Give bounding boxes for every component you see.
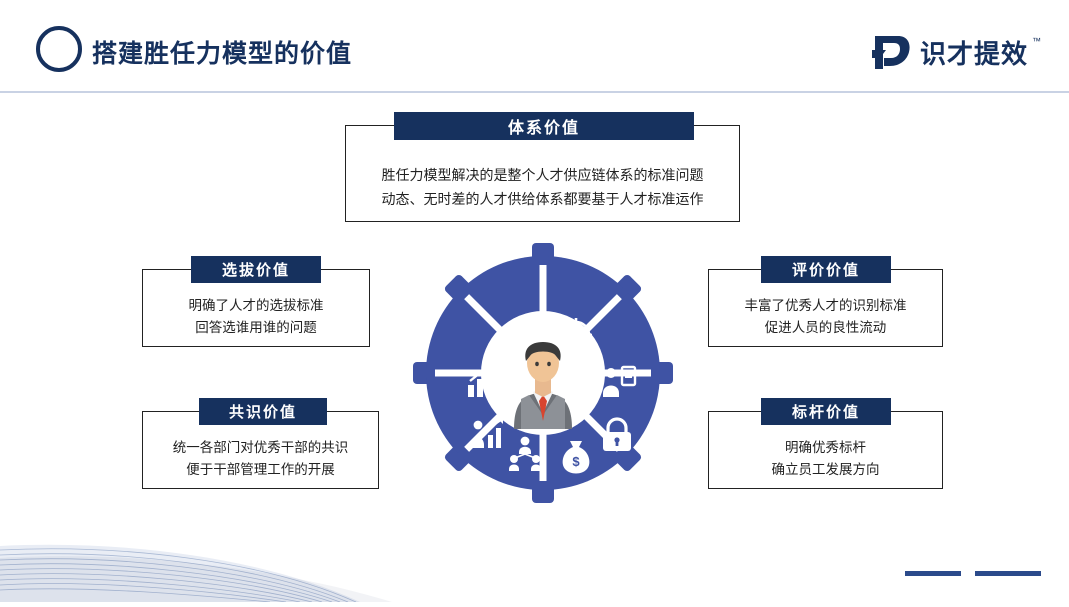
ring-icon xyxy=(36,26,82,72)
callout-line: 确立员工发展方向 xyxy=(772,459,880,481)
callout-line: 统一各部门对优秀干部的共识 xyxy=(173,437,349,459)
competency-wheel: $ xyxy=(413,243,673,503)
callout-line: 明确优秀标杆 xyxy=(785,437,866,459)
callout-title-selection-value: 选拔价值 xyxy=(191,256,321,283)
brand-logo: 识才提效 ™ xyxy=(872,30,1041,74)
callout-title-consensus-value: 共识价值 xyxy=(199,398,327,425)
callout-title-benchmark-value: 标杆价值 xyxy=(761,398,891,425)
callout-line: 便于干部管理工作的开展 xyxy=(186,459,335,481)
callout-body-system-value: 胜任力模型解决的是整个人才供应链体系的标准问题 动态、无时差的人才供给体系都要基… xyxy=(346,152,739,221)
callout-line: 明确了人才的选拔标准 xyxy=(189,295,324,317)
page-footer xyxy=(0,506,1069,602)
callout-body-benchmark-value: 明确优秀标杆 确立员工发展方向 xyxy=(709,430,942,488)
person-avatar-icon xyxy=(485,315,601,431)
callout-line: 丰富了优秀人才的识别标准 xyxy=(745,295,907,317)
callout-body-selection-value: 明确了人才的选拔标准 回答选谁用谁的问题 xyxy=(143,288,369,346)
footer-accent-bar-2 xyxy=(975,571,1041,576)
header-divider xyxy=(0,91,1069,93)
callout-title-evaluation-value: 评价价值 xyxy=(761,256,891,283)
page-title: 搭建胜任力模型的价值 xyxy=(92,34,352,70)
callout-box-evaluation-value: 评价价值 丰富了优秀人才的识别标准 促进人员的良性流动 xyxy=(708,269,943,347)
footer-accent-bar-1 xyxy=(905,571,961,576)
brand-d-icon xyxy=(872,32,912,72)
page-header: 搭建胜任力模型的价值 识才提效 ™ xyxy=(0,0,1069,92)
footer-wave-decoration xyxy=(0,506,1069,602)
callout-title-system-value: 体系价值 xyxy=(394,112,694,140)
trademark-symbol: ™ xyxy=(1032,36,1041,46)
brand-name: 识才提效 xyxy=(920,34,1028,71)
callout-line: 动态、无时差的人才供给体系都要基于人才标准运作 xyxy=(382,187,704,211)
callout-body-consensus-value: 统一各部门对优秀干部的共识 便于干部管理工作的开展 xyxy=(143,430,378,488)
svg-text:$: $ xyxy=(572,454,580,469)
callout-box-system-value: 体系价值 胜任力模型解决的是整个人才供应链体系的标准问题 动态、无时差的人才供给… xyxy=(345,125,740,222)
callout-box-selection-value: 选拔价值 明确了人才的选拔标准 回答选谁用谁的问题 xyxy=(142,269,370,347)
callout-line: 回答选谁用谁的问题 xyxy=(195,317,317,339)
callout-body-evaluation-value: 丰富了优秀人才的识别标准 促进人员的良性流动 xyxy=(709,288,942,346)
callout-box-consensus-value: 共识价值 统一各部门对优秀干部的共识 便于干部管理工作的开展 xyxy=(142,411,379,489)
callout-line: 促进人员的良性流动 xyxy=(765,317,887,339)
callout-line: 胜任力模型解决的是整个人才供应链体系的标准问题 xyxy=(382,163,704,187)
callout-box-benchmark-value: 标杆价值 明确优秀标杆 确立员工发展方向 xyxy=(708,411,943,489)
